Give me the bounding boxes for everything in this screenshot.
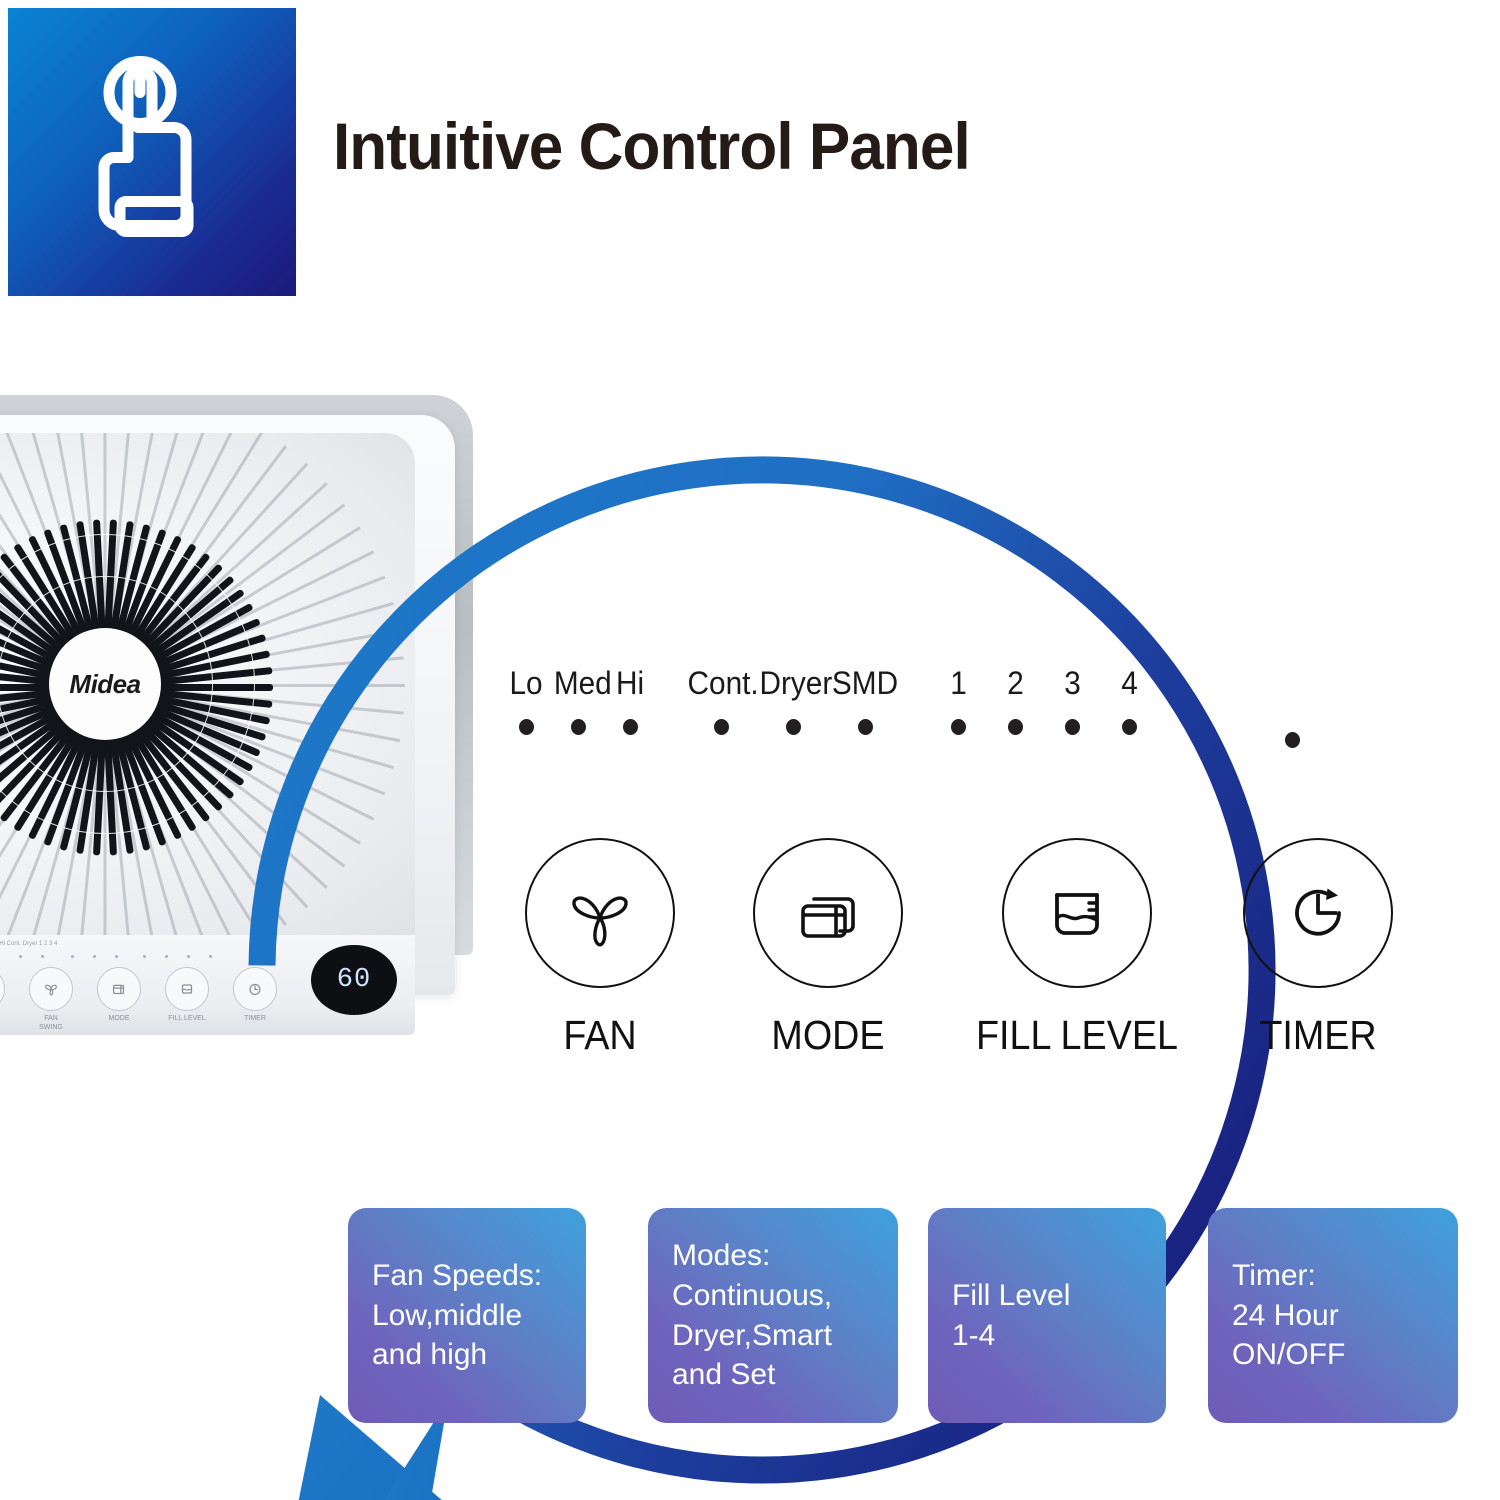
indicator-dot [571, 719, 586, 735]
midea-logo: Midea [69, 669, 140, 700]
clock-rotate-icon [1281, 876, 1355, 950]
indicator-dot-cell [757, 719, 829, 735]
indicator-dot [519, 719, 534, 735]
indicator-label: 1 [932, 665, 985, 702]
control-icons: FAN MODE FILL LEVEL [500, 838, 1380, 1078]
indicator-dot [623, 719, 638, 735]
indicator-dot [786, 719, 801, 735]
indicator-labels-mode: Cont.DryerSMD [685, 665, 901, 702]
indicator-label: SMD [832, 665, 899, 702]
device-fan-button-sublabel: SWING [15, 1024, 87, 1031]
control-label-fill-level: FILL LEVEL [960, 1012, 1194, 1059]
fan-speeds-card-text: Fan Speeds: Low,middle and high [372, 1256, 542, 1376]
indicator-dot-cell [685, 719, 757, 735]
indicator-group-fan-speed: LoMedHi [500, 665, 656, 735]
indicator-dot [1065, 719, 1080, 735]
control-timer[interactable]: TIMER [1218, 838, 1418, 1059]
indicator-dot [858, 719, 873, 735]
modes-card-text: Modes: Continuous, Dryer,Smart and Set [672, 1236, 832, 1396]
indicator-dot-cell [500, 719, 552, 735]
control-fan[interactable]: FAN [500, 838, 700, 1059]
indicator-dot-cell [829, 719, 901, 735]
touch-tap-finger-icon [82, 50, 222, 255]
timer-indicator-dot [1285, 732, 1300, 748]
indicator-label: 2 [989, 665, 1042, 702]
indicator-dots-fan-speed [500, 719, 656, 735]
indicator-label: Lo [502, 665, 550, 702]
water-tank-level-icon [1040, 876, 1114, 950]
device-indicator-dot [115, 955, 118, 958]
feature-cards: Fan Speeds: Low,middle and highModes: Co… [348, 1208, 1458, 1433]
indicator-dot-cell [552, 719, 604, 735]
indicator-label: 3 [1046, 665, 1099, 702]
control-mode[interactable]: MODE [728, 838, 928, 1059]
control-label-mode: MODE [736, 1012, 920, 1059]
device-mode-button[interactable] [97, 967, 141, 1011]
indicator-label: Hi [606, 665, 654, 702]
control-label-timer: TIMER [1226, 1012, 1410, 1059]
timer-card-text: Timer: 24 Hour ON/OFF [1232, 1256, 1345, 1376]
indicator-dots-fill-level [930, 719, 1158, 735]
timer-button-circle[interactable] [1243, 838, 1393, 988]
fan-speeds-card: Fan Speeds: Low,middle and high [348, 1208, 586, 1423]
header: Intuitive Control Panel [0, 0, 1500, 300]
indicator-dot-cell [1101, 719, 1158, 735]
control-fill-level[interactable]: FILL LEVEL [950, 838, 1204, 1059]
device-up-button[interactable] [0, 967, 5, 1011]
modes-card: Modes: Continuous, Dryer,Smart and Set [648, 1208, 898, 1423]
control-label-fan: FAN [508, 1012, 692, 1059]
fill-level-button-circle[interactable] [1002, 838, 1152, 988]
device-fan-button[interactable] [29, 967, 73, 1011]
page-title: Intuitive Control Panel [333, 108, 970, 184]
brand-hub: Midea [49, 628, 161, 740]
indicator-label: Med [554, 665, 602, 702]
timer-card: Timer: 24 Hour ON/OFF [1208, 1208, 1458, 1423]
indicator-labels-fan-speed: LoMedHi [500, 665, 656, 702]
indicator-dot-cell [604, 719, 656, 735]
indicator-dots-mode [685, 719, 901, 735]
fan-propeller-icon [561, 874, 639, 952]
device-indicator-labels: Lo Hi Cont. Dryer 1 2 3 4 [0, 941, 57, 947]
panel-indicators: LoMedHiCont.DryerSMD1234 [470, 665, 1370, 765]
fill-level-card: Fill Level 1-4 [928, 1208, 1166, 1423]
indicator-label: 4 [1103, 665, 1156, 702]
fill-level-card-text: Fill Level 1-4 [952, 1276, 1070, 1356]
indicator-label: Dryer [760, 665, 827, 702]
device-mode-button-label: MODE [83, 1015, 155, 1022]
device-indicator-dot [41, 955, 44, 958]
indicator-group-mode: Cont.DryerSMD [685, 665, 901, 735]
indicator-labels-fill-level: 1234 [930, 665, 1158, 702]
fan-button-circle[interactable] [525, 838, 675, 988]
layered-cards-icon [790, 875, 866, 951]
mode-button-circle[interactable] [753, 838, 903, 988]
indicator-label: Cont. [688, 665, 755, 702]
indicator-dot [1008, 719, 1023, 735]
indicator-dot [1122, 719, 1137, 735]
device-indicator-dot [19, 955, 22, 958]
indicator-dot-cell [930, 719, 987, 735]
device-indicator-dot [71, 955, 74, 958]
indicator-dot-cell [1044, 719, 1101, 735]
indicator-dot [714, 719, 729, 735]
indicator-group-fill-level: 1234 [930, 665, 1158, 735]
device-indicator-dot [93, 955, 96, 958]
header-badge [8, 8, 296, 296]
indicator-dot-cell [987, 719, 1044, 735]
indicator-dot [951, 719, 966, 735]
device-indicator-dot [143, 955, 146, 958]
device-fan-button-label: FAN [15, 1015, 87, 1022]
